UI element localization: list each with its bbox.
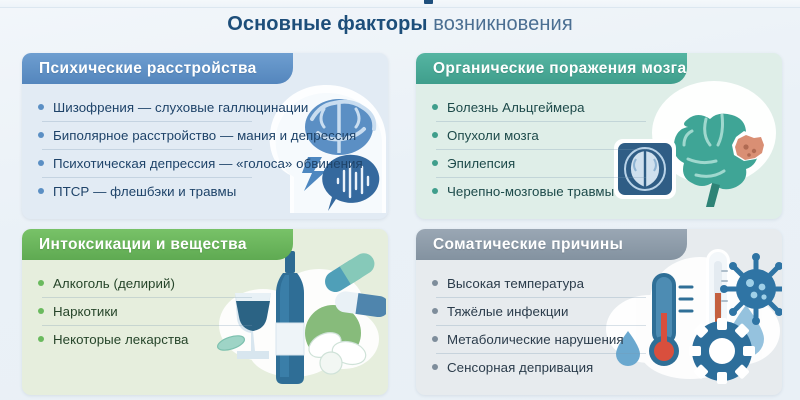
card-body-psychiatric-disorders: Шизофрения — слуховые галлюцинации Бипол… — [22, 84, 388, 219]
list-item-label: Биполярное расстройство — мания и депрес… — [53, 128, 356, 143]
list-item[interactable]: Некоторые лекарства — [38, 325, 372, 353]
list-item-label: Метаболические нарушения — [447, 332, 624, 347]
card-somatic-causes[interactable]: Соматические причины Высокая температура… — [416, 229, 782, 395]
card-title: Интоксикации и вещества — [39, 236, 247, 254]
list-item[interactable]: Высокая температура — [432, 269, 766, 297]
bullet-icon — [432, 364, 438, 370]
list-item-label: ПТСР — флешбэки и травмы — [53, 184, 236, 199]
list-item[interactable]: Сенсорная депривация — [432, 353, 766, 381]
clipped-text-fragment — [424, 0, 433, 4]
card-body-intoxications-and-substances: Алкоголь (делирий) Наркотики Некоторые л… — [22, 260, 388, 395]
card-psychiatric-disorders[interactable]: Психические расстройства Шизофрения — сл… — [22, 53, 388, 219]
list-item[interactable]: Болезнь Альцгеймера — [432, 93, 766, 121]
bullet-icon — [38, 280, 44, 286]
card-body-somatic-causes: Высокая температура Тяжёлые инфекции Мет… — [416, 260, 782, 395]
bullet-icon — [38, 188, 44, 194]
list-item-label: Шизофрения — слуховые галлюцинации — [53, 100, 308, 115]
card-organic-brain-lesions[interactable]: Органические поражения мозга Болезнь Аль… — [416, 53, 782, 219]
list-item[interactable]: Тяжёлые инфекции — [432, 297, 766, 325]
bullet-icon — [432, 132, 438, 138]
card-header-organic-brain-lesions: Органические поражения мозга — [416, 53, 687, 84]
bullet-icon — [38, 160, 44, 166]
list-item-label: Болезнь Альцгеймера — [447, 100, 585, 115]
card-header-somatic-causes: Соматические причины — [416, 229, 687, 260]
card-intoxications-and-substances[interactable]: Интоксикации и вещества Алкоголь (делири… — [22, 229, 388, 395]
bullet-icon — [432, 280, 438, 286]
list-item-label: Тяжёлые инфекции — [447, 304, 568, 319]
card-header-intoxications-and-substances: Интоксикации и вещества — [22, 229, 293, 260]
list-item-label: Наркотики — [53, 304, 118, 319]
bullet-icon — [432, 188, 438, 194]
top-cut-off-strip — [0, 0, 800, 8]
list-item-label: Опухоли мозга — [447, 128, 539, 143]
page-title-strong: Основные факторы — [227, 13, 427, 35]
list-item[interactable]: ПТСР — флешбэки и травмы — [38, 177, 372, 205]
card-title: Психические расстройства — [39, 60, 257, 78]
page-title-rest: возникновения — [433, 13, 572, 35]
bullet-icon — [38, 308, 44, 314]
page-title: Основные факторы возникновения — [0, 13, 800, 36]
list-item[interactable]: Наркотики — [38, 297, 372, 325]
list-item-label: Сенсорная депривация — [447, 360, 593, 375]
bullet-icon — [432, 308, 438, 314]
list-item[interactable]: Эпилепсия — [432, 149, 766, 177]
bullet-icon — [432, 160, 438, 166]
card-body-organic-brain-lesions: Болезнь Альцгеймера Опухоли мозга Эпилеп… — [416, 84, 782, 219]
list-item[interactable]: Алкоголь (делирий) — [38, 269, 372, 297]
factor-cards-grid: Психические расстройства Шизофрения — сл… — [22, 53, 782, 395]
list-item-label: Некоторые лекарства — [53, 332, 189, 347]
list-item-label: Высокая температура — [447, 276, 584, 291]
bullet-icon — [38, 336, 44, 342]
list-item[interactable]: Черепно-мозговые травмы — [432, 177, 766, 205]
list-item[interactable]: Психотическая депрессия — «голоса» обвин… — [38, 149, 372, 177]
card-title: Органические поражения мозга — [433, 60, 686, 78]
bullet-icon — [432, 336, 438, 342]
list-item[interactable]: Биполярное расстройство — мания и депрес… — [38, 121, 372, 149]
bullet-icon — [38, 132, 44, 138]
list-item-label: Психотическая депрессия — «голоса» обвин… — [53, 156, 363, 171]
list-item-label: Эпилепсия — [447, 156, 515, 171]
list-item[interactable]: Опухоли мозга — [432, 121, 766, 149]
card-header-psychiatric-disorders: Психические расстройства — [22, 53, 293, 84]
list-item-label: Алкоголь (делирий) — [53, 276, 175, 291]
bullet-icon — [432, 104, 438, 110]
list-item[interactable]: Метаболические нарушения — [432, 325, 766, 353]
bullet-icon — [38, 104, 44, 110]
card-title: Соматические причины — [433, 236, 623, 254]
list-item[interactable]: Шизофрения — слуховые галлюцинации — [38, 93, 372, 121]
list-item-label: Черепно-мозговые травмы — [447, 184, 614, 199]
